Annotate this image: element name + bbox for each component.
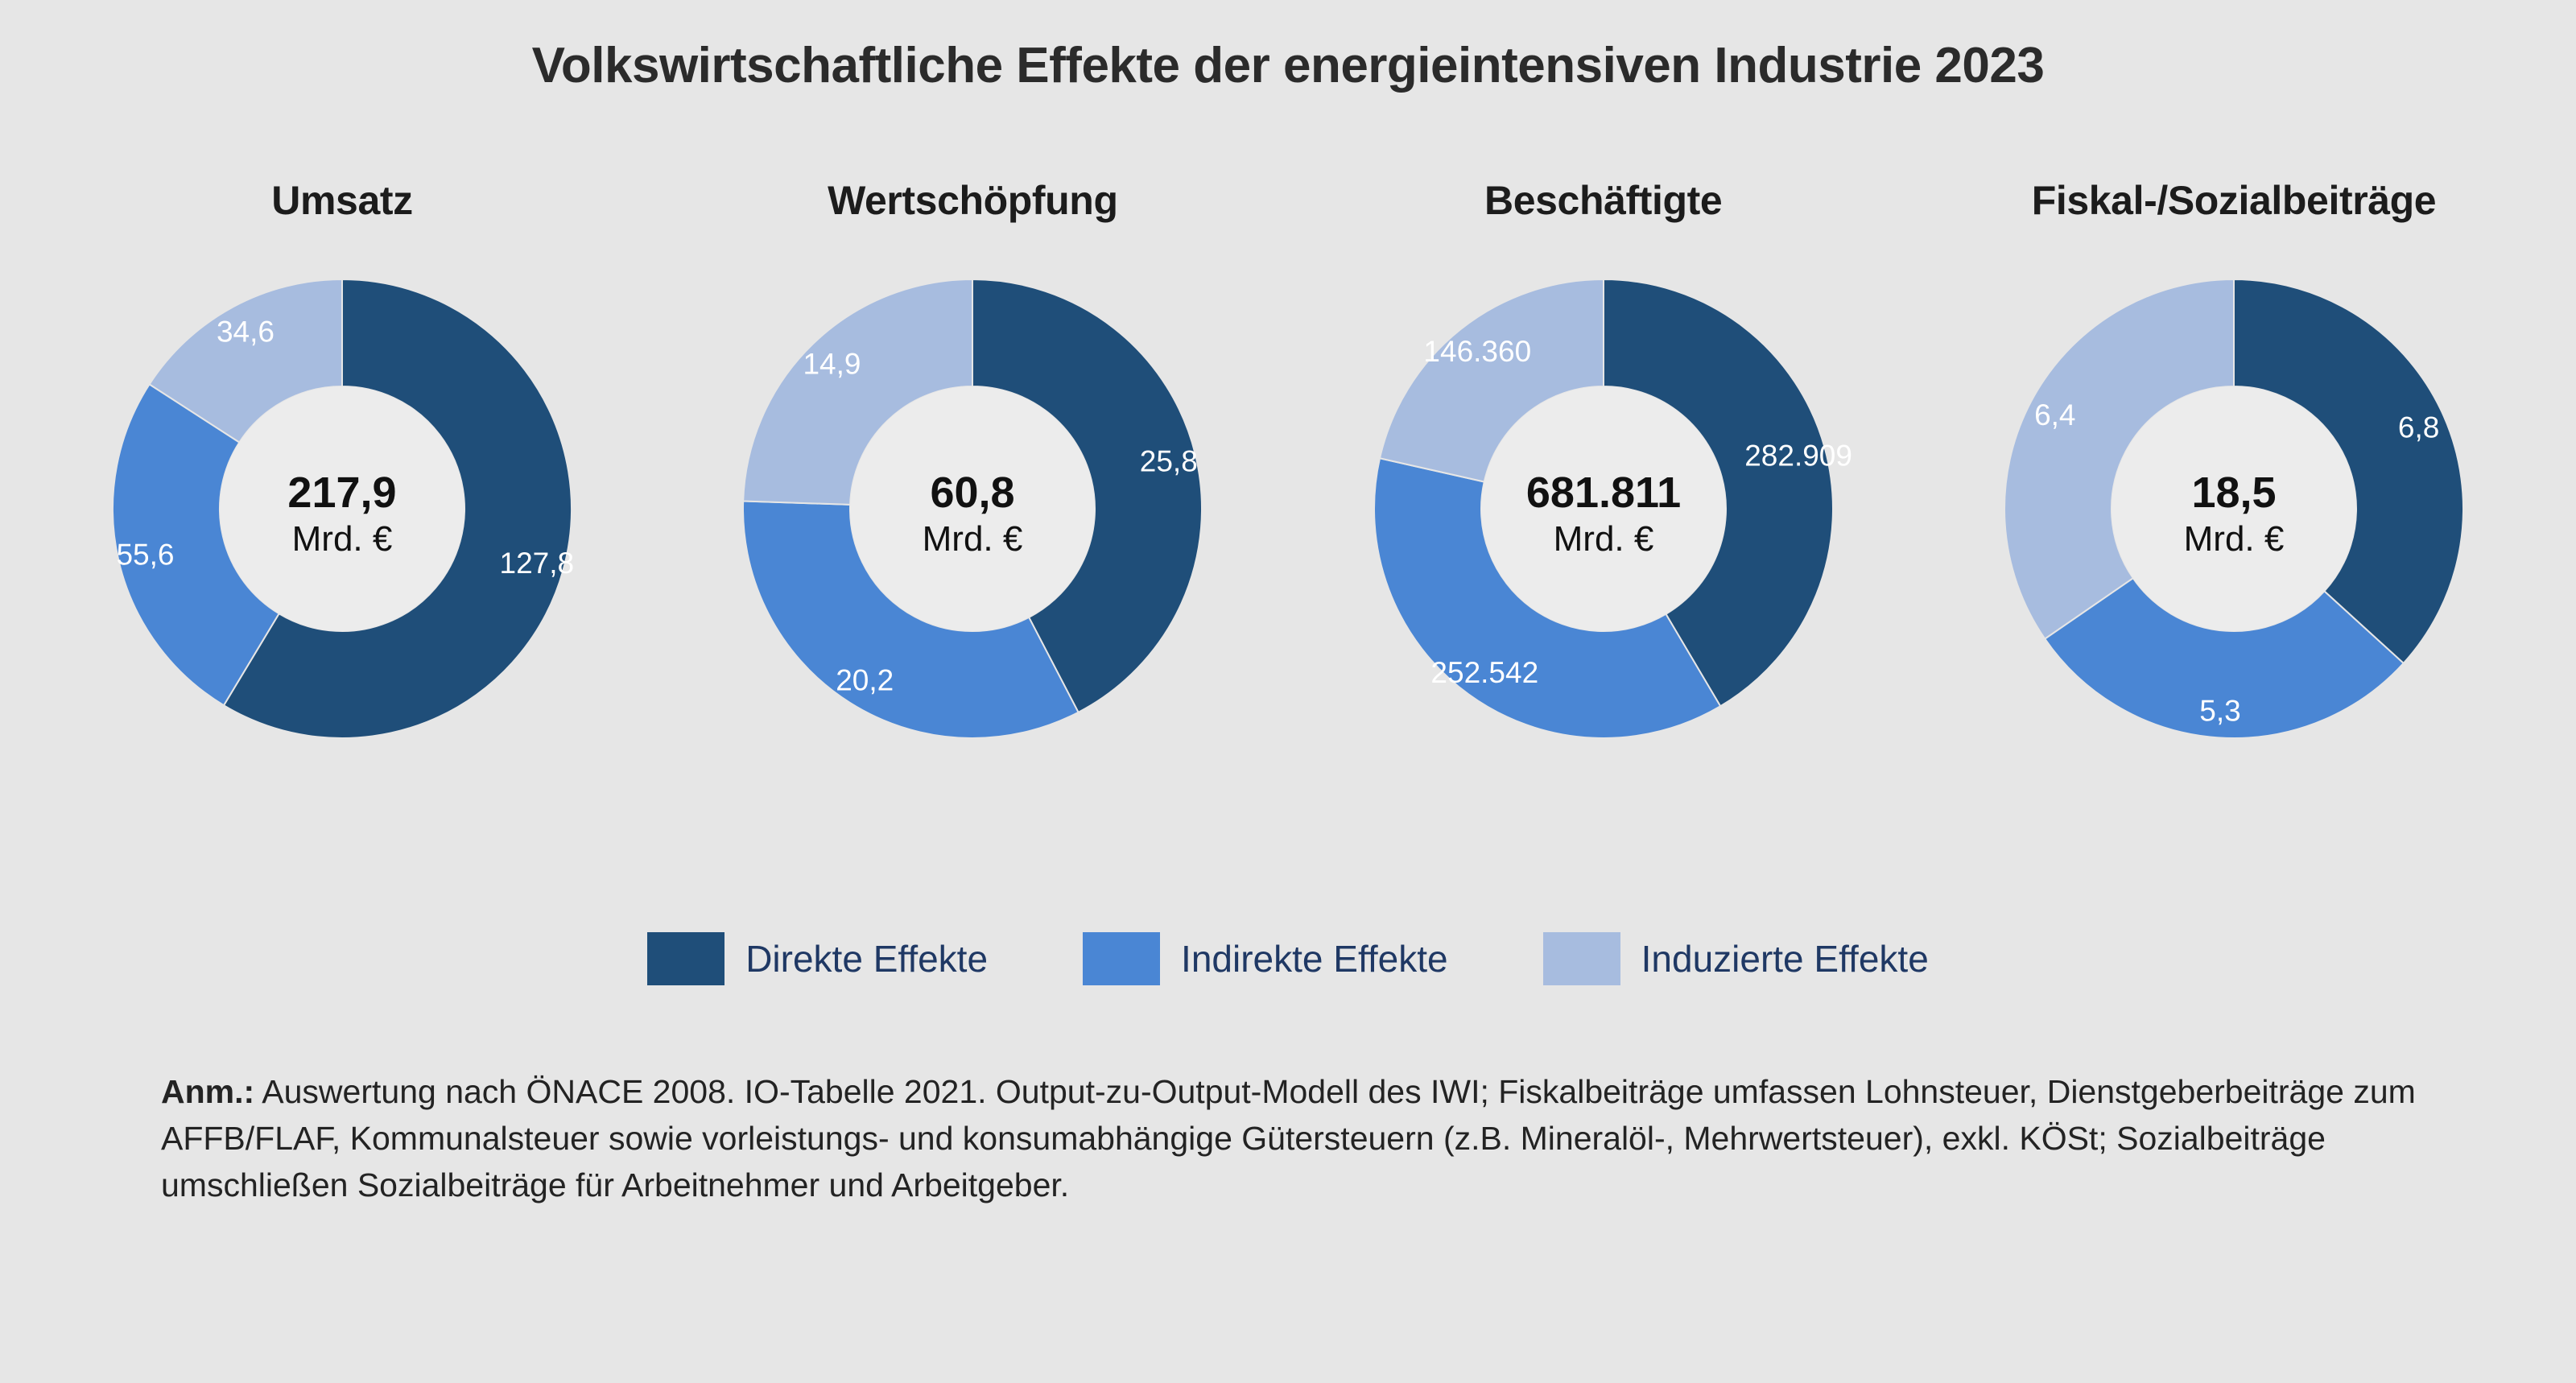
donut-panel-title: Beschäftigte bbox=[1484, 177, 1722, 224]
donut-slice-label: 282.909 bbox=[1744, 440, 1852, 473]
donut-chart: 282.909252.542146.360681.811Mrd. € bbox=[1322, 251, 1885, 766]
donut-slice-label: 20,2 bbox=[836, 663, 894, 696]
donut-panel-title: Umsatz bbox=[271, 177, 412, 224]
donut-chart: 25,820,214,960,8Mrd. € bbox=[691, 251, 1254, 766]
donut-chart-row: Umsatz127,855,634,6217,9Mrd. €Wertschöpf… bbox=[0, 177, 2576, 886]
legend-label: Indirekte Effekte bbox=[1181, 937, 1448, 980]
donut-slice-label: 146.360 bbox=[1423, 335, 1531, 368]
legend-label: Induzierte Effekte bbox=[1641, 937, 1929, 980]
donut-slice-label: 14,9 bbox=[803, 348, 861, 381]
donut-center-value: 60,8 bbox=[931, 469, 1015, 517]
donut-center-unit: Mrd. € bbox=[2184, 519, 2285, 559]
donut-slice-label: 25,8 bbox=[1140, 444, 1198, 477]
chart-page: Volkswirtschaftliche Effekte der energie… bbox=[0, 0, 2576, 1383]
footnote-lead: Anm.: bbox=[161, 1073, 254, 1110]
legend-swatch-icon bbox=[1083, 932, 1160, 985]
donut-slice-label: 252.542 bbox=[1430, 656, 1538, 689]
donut-svg: 25,820,214,960,8Mrd. € bbox=[691, 251, 1254, 766]
donut-svg: 6,85,36,418,5Mrd. € bbox=[1952, 251, 2516, 766]
donut-panel-2: Wertschöpfung25,820,214,960,8Mrd. € bbox=[663, 177, 1282, 766]
page-title: Volkswirtschaftliche Effekte der energie… bbox=[0, 37, 2576, 94]
donut-svg: 282.909252.542146.360681.811Mrd. € bbox=[1322, 251, 1885, 766]
donut-panel-4: Fiskal-/Sozialbeiträge6,85,36,418,5Mrd. … bbox=[1924, 177, 2544, 766]
donut-slice-label: 6,8 bbox=[2398, 411, 2439, 444]
legend-item-1[interactable]: Direkte Effekte bbox=[647, 932, 988, 985]
donut-panel-1: Umsatz127,855,634,6217,9Mrd. € bbox=[32, 177, 652, 766]
donut-center-value: 217,9 bbox=[287, 469, 396, 517]
legend-item-3[interactable]: Induzierte Effekte bbox=[1543, 932, 1929, 985]
donut-panel-title: Wertschöpfung bbox=[828, 177, 1118, 224]
legend-swatch-icon bbox=[1543, 932, 1620, 985]
donut-chart: 6,85,36,418,5Mrd. € bbox=[1952, 251, 2516, 766]
donut-svg: 127,855,634,6217,9Mrd. € bbox=[60, 251, 624, 766]
donut-center-unit: Mrd. € bbox=[292, 519, 393, 559]
donut-center-value: 681.811 bbox=[1526, 469, 1681, 517]
donut-chart: 127,855,634,6217,9Mrd. € bbox=[60, 251, 624, 766]
donut-panel-3: Beschäftigte282.909252.542146.360681.811… bbox=[1294, 177, 1913, 766]
donut-slice-label: 127,8 bbox=[500, 547, 575, 580]
donut-panel-title: Fiskal-/Sozialbeiträge bbox=[2032, 177, 2436, 224]
donut-center-unit: Mrd. € bbox=[923, 519, 1023, 559]
donut-slice-label: 55,6 bbox=[116, 539, 174, 572]
donut-slice-label: 34,6 bbox=[217, 316, 275, 349]
footnote: Anm.: Auswertung nach ÖNACE 2008. IO-Tab… bbox=[161, 1068, 2479, 1209]
footnote-text: Auswertung nach ÖNACE 2008. IO-Tabelle 2… bbox=[161, 1073, 2416, 1203]
legend-swatch-icon bbox=[647, 932, 724, 985]
legend-item-2[interactable]: Indirekte Effekte bbox=[1083, 932, 1448, 985]
donut-slice-label: 5,3 bbox=[2199, 694, 2240, 727]
donut-center-unit: Mrd. € bbox=[1553, 519, 1653, 559]
chart-legend: Direkte EffekteIndirekte EffekteInduzier… bbox=[0, 932, 2576, 985]
legend-label: Direkte Effekte bbox=[745, 937, 988, 980]
donut-center-value: 18,5 bbox=[2191, 469, 2276, 517]
donut-slice-label: 6,4 bbox=[2034, 398, 2075, 431]
